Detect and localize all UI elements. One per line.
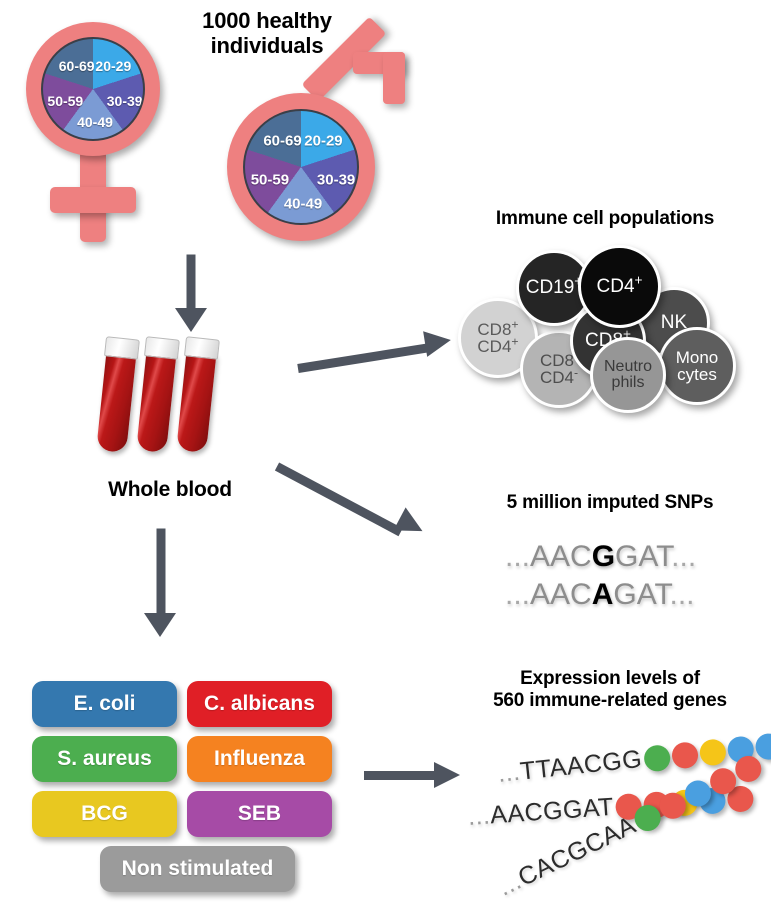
expression-title: Expression levels of 560 immune-related …	[460, 668, 760, 712]
stimulus-label: Non stimulated	[122, 857, 274, 881]
cell-label-line1: CD8	[477, 320, 511, 339]
age-group-label: 20-29	[304, 132, 342, 149]
male-age-pie: 20-2930-3940-4950-5960-69	[243, 109, 359, 225]
age-group-label: 40-49	[77, 114, 113, 130]
immune-cell-cd4pos: CD4+	[578, 245, 661, 328]
male-symbol: 20-2930-3940-4950-5960-69	[205, 45, 415, 245]
tube-cap	[104, 336, 140, 359]
age-group-label: 40-49	[284, 195, 322, 212]
blood-tube	[134, 336, 180, 455]
snp-trail: ...	[671, 540, 696, 573]
age-group-label: 60-69	[263, 132, 301, 149]
stimulus-label: C. albicans	[204, 692, 315, 716]
snp-sequence-row: ...AACAGAT...	[505, 578, 695, 612]
strand-sequence: ...TTAACGG	[496, 745, 643, 789]
expression-title-line2: 560 immune-related genes	[460, 690, 760, 712]
snp-variant: A	[592, 578, 614, 611]
snp-post: GAT	[613, 578, 669, 611]
stimulus-label: Influenza	[214, 747, 305, 771]
stimulus-pill-e-coli[interactable]: E. coli	[32, 681, 177, 727]
age-group-label: 50-59	[251, 171, 289, 188]
stimulus-pill-non-stimulated[interactable]: Non stimulated	[100, 846, 295, 892]
blood-tubes	[104, 336, 264, 466]
tube-cap	[184, 336, 220, 359]
stimulus-pill-seb[interactable]: SEB	[187, 791, 332, 837]
stimulus-pill-c-albicans[interactable]: C. albicans	[187, 681, 332, 727]
cell-label: CD19	[526, 277, 575, 298]
immune-cell-neutrophils: Neutro phils	[590, 337, 666, 413]
cell-label-line2: CD4	[477, 337, 511, 356]
strand-bases: AACGGAT	[489, 793, 615, 830]
age-group-label: 20-29	[95, 58, 131, 74]
snp-variant: G	[592, 540, 615, 573]
figure-canvas: 1000 healthy individuals 20-2930-3940-49…	[0, 0, 771, 922]
male-arrow-barb-v	[383, 52, 405, 104]
stimulus-label: BCG	[81, 802, 128, 826]
expression-bead	[671, 741, 700, 770]
immune-cell-monocytes: Mono cytes	[658, 327, 736, 405]
female-symbol: 20-2930-3940-4950-5960-69	[10, 12, 210, 242]
snp-post: GAT	[615, 540, 671, 573]
tube-body	[176, 350, 216, 453]
tube-body	[96, 350, 136, 453]
tube-body	[136, 350, 176, 453]
snp-trail: ...	[670, 578, 695, 611]
expression-bead	[698, 738, 727, 767]
expression-bead	[643, 744, 672, 773]
age-group-label: 60-69	[59, 58, 95, 74]
strand-sequence: ...AACGGAT	[467, 793, 615, 832]
blood-tube	[174, 336, 220, 455]
snp-lead: ...	[505, 540, 530, 573]
stimulus-label: SEB	[238, 802, 281, 826]
strand-bases: TTAACGG	[519, 745, 644, 786]
stimulus-pill-s-aureus[interactable]: S. aureus	[32, 736, 177, 782]
cell-label-line2: phils	[612, 374, 645, 391]
stimulus-pill-bcg[interactable]: BCG	[32, 791, 177, 837]
strand-lead: ...	[467, 801, 491, 830]
cell-label: CD4	[597, 276, 635, 297]
whole-blood-label: Whole blood	[80, 478, 260, 502]
tube-cap	[144, 336, 180, 359]
blood-tube	[94, 336, 140, 455]
cell-label-line1: Mono	[676, 348, 719, 367]
female-age-pie: 20-2930-3940-4950-5960-69	[41, 37, 145, 141]
age-group-label: 30-39	[107, 93, 143, 109]
stimulus-label: E. coli	[74, 692, 136, 716]
age-group-label: 50-59	[47, 93, 83, 109]
expression-strands: ...TTAACGG ...AACGGAT ...CACGCAA	[470, 735, 770, 915]
cell-label-line1: CD8	[540, 351, 574, 370]
cell-label-line2: CD4	[540, 368, 574, 387]
snps-title: 5 million imputed SNPs	[470, 492, 750, 514]
snp-sequence-row: ...AACGGAT...	[505, 540, 696, 574]
snp-pre: AAC	[530, 578, 592, 611]
snp-pre: AAC	[530, 540, 592, 573]
cell-label-line1: Neutro	[604, 358, 652, 375]
female-stem-horizontal	[50, 187, 136, 213]
stimulus-label: S. aureus	[57, 747, 152, 771]
expression-title-line1: Expression levels of	[460, 668, 760, 690]
age-group-label: 30-39	[317, 171, 355, 188]
immune-title: Immune cell populations	[460, 208, 750, 230]
immune-cell-cluster: CD8+ CD4+ CD19+ CD4+ CD8+ NK CD8- CD4-	[458, 245, 758, 410]
snp-lead: ...	[505, 578, 530, 611]
cell-label-line2: cytes	[677, 365, 717, 384]
stimulus-pill-influenza[interactable]: Influenza	[187, 736, 332, 782]
